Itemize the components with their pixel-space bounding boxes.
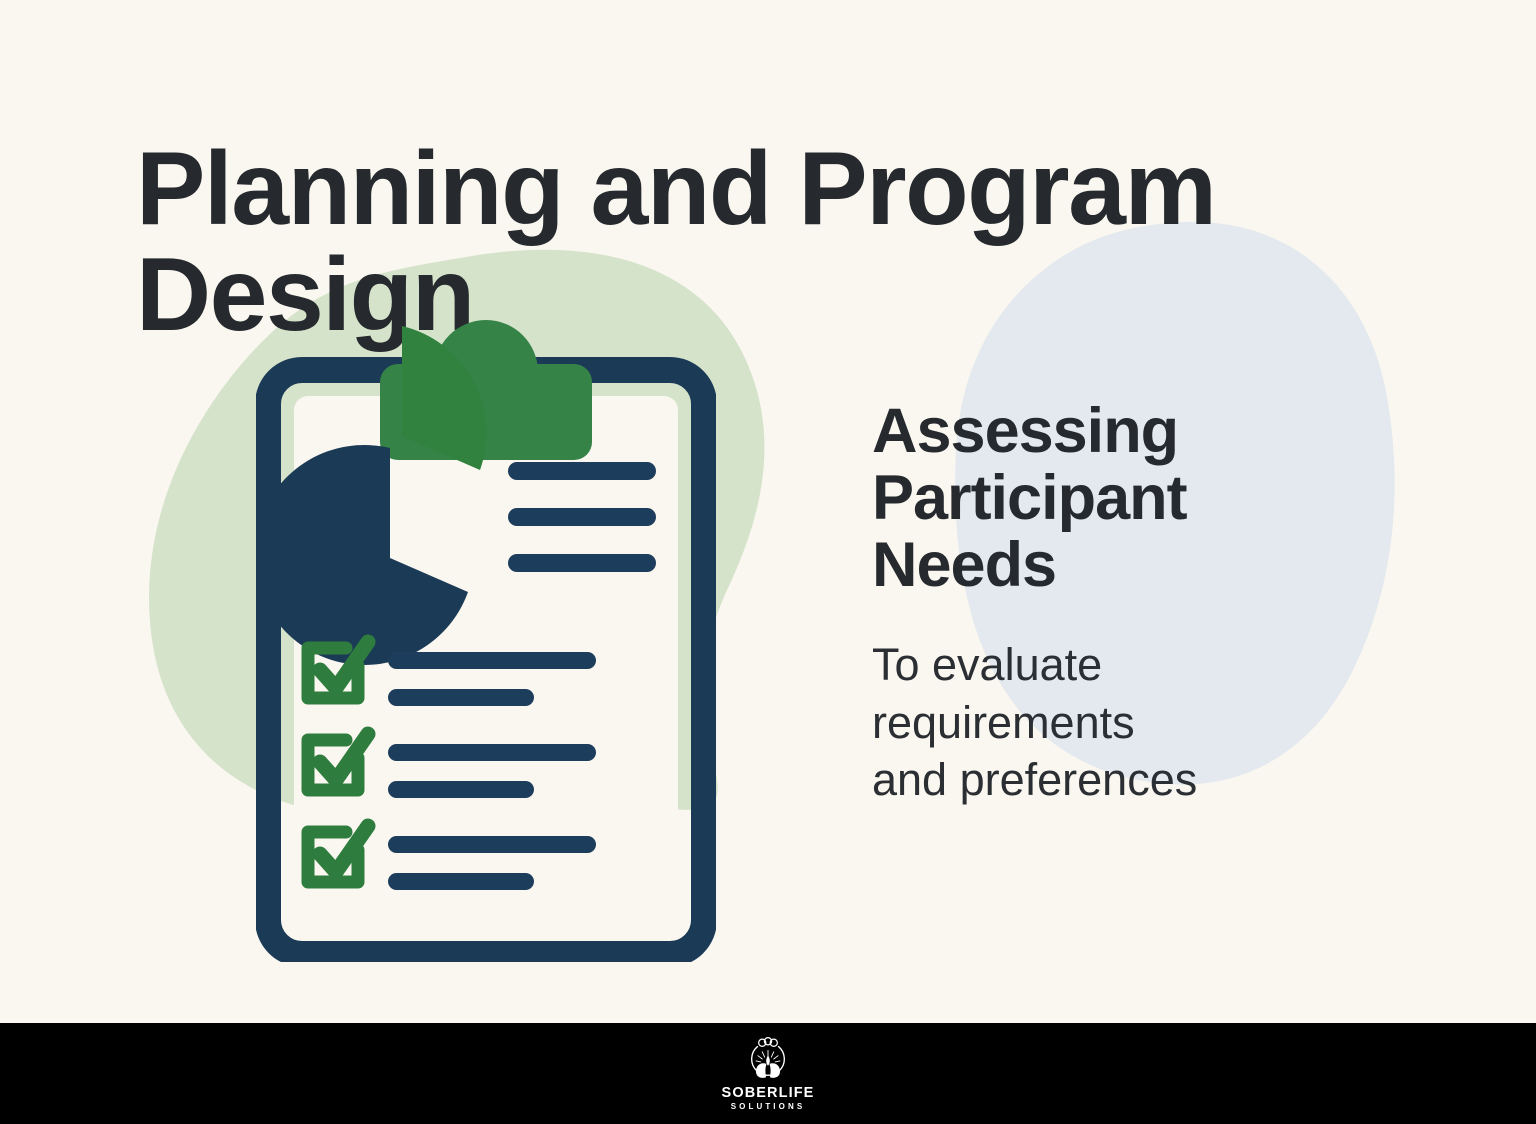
section-heading: Assessing Participant Needs <box>872 398 1302 598</box>
checklist-line-primary <box>388 744 596 761</box>
clipboard-illustration <box>256 312 716 962</box>
brand-name: SOBERLIFE <box>722 1086 815 1101</box>
text-line <box>508 462 656 480</box>
right-text-column: Assessing Participant Needs To evaluate … <box>872 398 1302 809</box>
text-line <box>508 554 656 572</box>
text-line <box>508 508 656 526</box>
section-body: To evaluate requirements and preferences <box>872 636 1302 809</box>
brand-lockup: SOBERLIFE SOLUTIONS <box>722 1036 815 1112</box>
soberlife-emblem-icon <box>744 1036 792 1084</box>
checklist-line-secondary <box>388 873 534 890</box>
checklist-line-primary <box>388 836 596 853</box>
slide-root: Planning and Program Design <box>0 0 1536 1124</box>
footer-bar: SOBERLIFE SOLUTIONS <box>0 1023 1536 1124</box>
checklist-line-primary <box>388 652 596 669</box>
checklist-line-secondary <box>388 781 534 798</box>
document-text-lines <box>508 462 656 572</box>
checklist-line-secondary <box>388 689 534 706</box>
brand-tagline: SOLUTIONS <box>731 1103 806 1111</box>
